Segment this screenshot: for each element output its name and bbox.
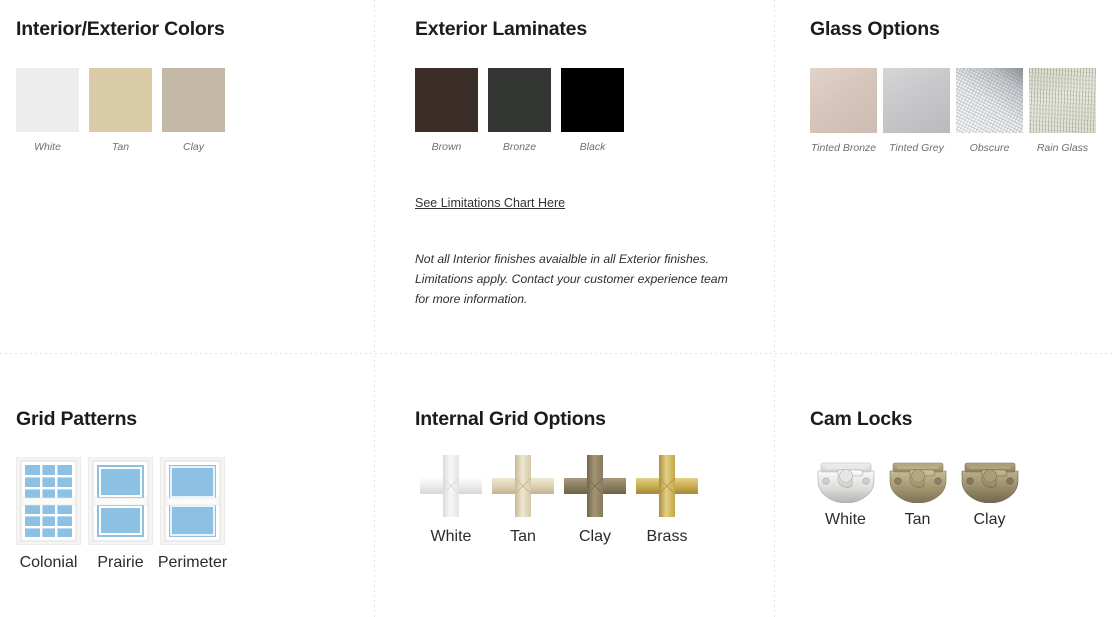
glass-chip [883, 68, 950, 133]
grid-cross-clay-icon [564, 455, 626, 517]
grid-pattern-perimeter[interactable]: Perimeter [160, 457, 225, 572]
swatch-obscure[interactable]: Obscure [956, 68, 1023, 154]
grid-cross-tan-icon [492, 455, 554, 517]
internal-grid-label: Tan [510, 528, 536, 546]
color-chip [415, 68, 478, 132]
swatch-label: Rain Glass [1037, 142, 1088, 154]
internal-grid-white[interactable]: White [415, 455, 487, 546]
glass-chip [1029, 68, 1096, 133]
color-chip [488, 68, 551, 132]
cam-lock-tan-icon [883, 455, 953, 503]
swatch-black[interactable]: Black [561, 68, 624, 153]
section-glass-options: Glass Options Tinted Bronze Tinted Grey … [774, 0, 1113, 353]
grid-pattern-prairie[interactable]: Prairie [88, 457, 153, 572]
swatch-rain-glass[interactable]: Rain Glass [1029, 68, 1096, 154]
page-title-cam-locks: Cam Locks [810, 408, 1097, 431]
window-prairie-icon [88, 457, 153, 545]
cam-lock-label: Tan [905, 511, 931, 529]
swatch-clay[interactable]: Clay [162, 68, 225, 153]
swatch-label: White [34, 141, 61, 153]
section-grid-patterns: Grid Patterns [0, 353, 374, 617]
swatch-label: Black [580, 141, 606, 153]
options-grid: Interior/Exterior Colors White Tan Clay [0, 0, 1113, 617]
internal-grid-clay[interactable]: Clay [559, 455, 631, 546]
page-title-exterior-laminates: Exterior Laminates [415, 18, 758, 41]
swatch-white[interactable]: White [16, 68, 79, 153]
swatch-label: Bronze [503, 141, 536, 153]
cam-lock-list: White [810, 455, 1097, 529]
internal-grid-label: Brass [647, 528, 688, 546]
grid-pattern-colonial[interactable]: Colonial [16, 457, 81, 572]
page-title-glass-options: Glass Options [810, 18, 1097, 41]
internal-grid-label: Clay [579, 528, 611, 546]
section-internal-grid-options: Internal Grid Options [374, 353, 774, 617]
cam-lock-label: White [825, 511, 866, 529]
page-title-grid-patterns: Grid Patterns [16, 408, 358, 431]
swatch-tinted-grey[interactable]: Tinted Grey [883, 68, 950, 154]
color-chip [162, 68, 225, 132]
swatch-bronze[interactable]: Bronze [488, 68, 551, 153]
window-perimeter-icon [160, 457, 225, 545]
grid-pattern-label: Perimeter [158, 554, 227, 572]
internal-grid-tan[interactable]: Tan [487, 455, 559, 546]
cam-lock-clay[interactable]: Clay [954, 455, 1025, 529]
swatch-label: Obscure [970, 142, 1010, 154]
page-title-internal-grid-options: Internal Grid Options [415, 408, 758, 431]
section-exterior-laminates: Exterior Laminates Brown Bronze Black Se… [374, 0, 774, 353]
glass-chip [810, 68, 877, 133]
swatch-brown[interactable]: Brown [415, 68, 478, 153]
glass-chip [956, 68, 1023, 133]
cam-lock-label: Clay [973, 511, 1005, 529]
swatch-label: Tinted Grey [889, 142, 944, 154]
cam-lock-tan[interactable]: Tan [882, 455, 953, 529]
cam-lock-white-icon [811, 455, 881, 503]
see-limitations-chart-link[interactable]: See Limitations Chart Here [415, 196, 565, 210]
swatch-tinted-bronze[interactable]: Tinted Bronze [810, 68, 877, 154]
limitations-note: Not all Interior finishes avaialble in a… [415, 250, 733, 309]
swatch-tan[interactable]: Tan [89, 68, 152, 153]
swatch-list-exterior-laminates: Brown Bronze Black [415, 68, 758, 153]
section-interior-exterior-colors: Interior/Exterior Colors White Tan Clay [0, 0, 374, 353]
grid-pattern-list: Colonial [16, 457, 358, 572]
window-colonial-icon [16, 457, 81, 545]
swatch-label: Clay [183, 141, 204, 153]
color-chip [89, 68, 152, 132]
page-title-interior-exterior-colors: Interior/Exterior Colors [16, 18, 358, 41]
swatch-list-interior-exterior: White Tan Clay [16, 68, 358, 153]
grid-cross-white-icon [420, 455, 482, 517]
swatch-label: Brown [432, 141, 462, 153]
cam-lock-clay-icon [955, 455, 1025, 503]
cam-lock-white[interactable]: White [810, 455, 881, 529]
grid-pattern-label: Colonial [20, 554, 78, 572]
color-chip [16, 68, 79, 132]
color-chip [561, 68, 624, 132]
internal-grid-brass[interactable]: Brass [631, 455, 703, 546]
swatch-label: Tan [112, 141, 129, 153]
grid-pattern-label: Prairie [97, 554, 143, 572]
section-cam-locks: Cam Locks [774, 353, 1113, 617]
internal-grid-list: White [415, 455, 758, 546]
swatch-label: Tinted Bronze [811, 142, 876, 154]
internal-grid-label: White [431, 528, 472, 546]
grid-cross-brass-icon [636, 455, 698, 517]
swatch-list-glass-options: Tinted Bronze Tinted Grey Obscure Rain G… [810, 68, 1097, 154]
